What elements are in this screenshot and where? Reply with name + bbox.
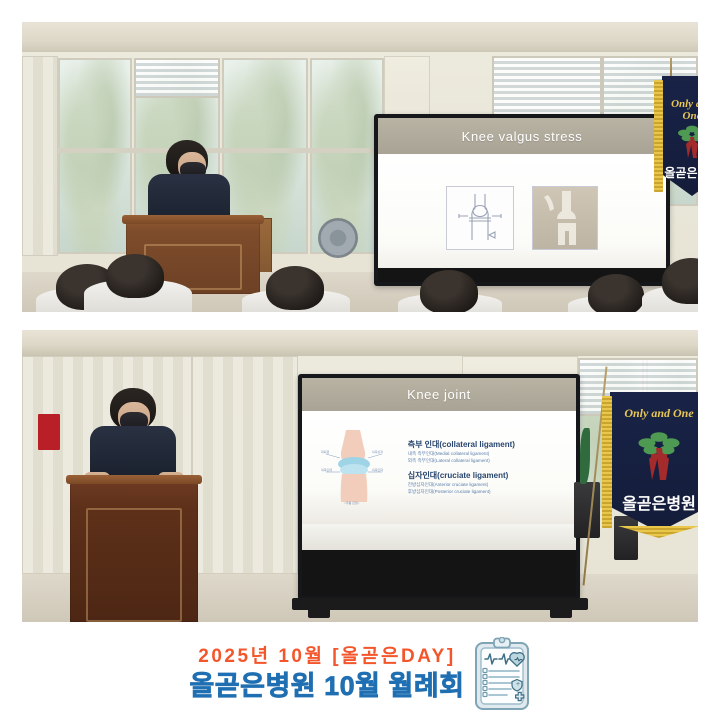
frosted-partition-left <box>22 56 58 256</box>
knee-text-block: 측부 인대(collateral ligament) 내측 측부인대(Media… <box>408 439 568 495</box>
cruciate-heading: 십자인대(cruciate ligament) <box>408 470 568 481</box>
screen-foot-left <box>308 608 330 618</box>
hospital-banner-bottom: Only and One <box>610 392 698 532</box>
event-photo-top: Knee valgus stress <box>22 22 698 312</box>
poster-page: Knee valgus stress <box>0 0 720 720</box>
screen-surface: Knee joint <box>302 378 576 596</box>
slide-title-bar: Knee joint <box>302 378 576 411</box>
caption-block: 2025년 10월 [올곧은DAY] 올곧은병원 10월 월례회 <box>0 628 720 720</box>
hospital-banner-top: Only and One <box>662 76 698 196</box>
ceiling-soffit <box>22 330 698 356</box>
podium-top-edge <box>122 215 264 224</box>
ceiling-soffit <box>22 22 698 56</box>
banner-tree-logo-top <box>662 124 698 160</box>
banner-name: 올곧은병원 <box>610 490 698 514</box>
caption-title: 올곧은병원 10월 월례회 <box>189 670 464 704</box>
standing-fan <box>318 218 358 258</box>
screen-lower-black-panel <box>302 550 576 596</box>
slide-knee-valgus: Knee valgus stress <box>378 118 666 282</box>
window-blind-upper <box>134 58 220 98</box>
event-photo-bottom: Knee joint <box>22 330 698 622</box>
podium-top-edge <box>66 475 202 484</box>
slide-title: Knee valgus stress <box>462 129 583 144</box>
plant-pot-1 <box>574 482 600 538</box>
projector-screen-bottom: Knee joint <box>298 374 580 600</box>
audience-head <box>588 274 644 312</box>
screen-surface: Knee valgus stress <box>378 118 666 282</box>
projector-screen-top: Knee valgus stress <box>374 114 670 286</box>
banner-fringe-top <box>654 80 663 192</box>
plant-pot-2 <box>614 516 638 560</box>
knee-line-diagram-icon <box>446 186 514 250</box>
plant-leaf-1 <box>580 428 590 484</box>
collateral-subline-1: 내측 측부인대(Medial collateral ligament) <box>408 451 568 457</box>
slide-title-bar: Knee valgus stress <box>378 118 666 154</box>
medical-clipboard-icon <box>473 637 531 711</box>
caption-text-group: 2025년 10월 [올곧은DAY] 올곧은병원 10월 월례회 <box>189 644 464 703</box>
slide-title: Knee joint <box>407 387 471 402</box>
knee-xray-photo <box>532 186 598 250</box>
window-blind-right <box>492 56 602 118</box>
cruciate-subline-2: 후방십자인대(Posterior cruciate ligament) <box>408 489 568 495</box>
screen-base-bar <box>292 598 588 610</box>
svg-text:<무릎 관절>: <무릎 관절> <box>344 500 360 505</box>
screen-blank-band <box>302 524 576 550</box>
lecture-room-scene-top: Knee valgus stress <box>22 22 698 312</box>
podium-front-panel <box>86 508 182 622</box>
slide-knee-joint: Knee joint <box>302 378 576 596</box>
svg-text:외측인대: 외측인대 <box>372 467 383 472</box>
window-pane-1 <box>58 58 132 254</box>
cruciate-subline-1: 전방십자인대(Anterior cruciate ligament) <box>408 482 568 488</box>
screen-foot-right <box>550 608 572 618</box>
audience-head <box>266 266 324 310</box>
banner-tree-logo <box>610 430 698 482</box>
caption-subtitle: 2025년 10월 [올곧은DAY] <box>198 644 455 670</box>
audience-head <box>420 270 478 312</box>
wall-red-sign <box>38 414 60 450</box>
svg-text:외측상과: 외측상과 <box>372 449 383 454</box>
collateral-heading: 측부 인대(collateral ligament) <box>408 439 568 450</box>
banner-motto: Only and One <box>610 406 698 421</box>
banner-motto-top: Only and One <box>662 98 698 122</box>
svg-text:내측인대: 내측인대 <box>321 467 332 472</box>
slide-body: 대퇴골 외측상과 내측인대 외측인대 <무릎 관절> 측부 인대(colla <box>302 411 576 524</box>
knee-anatomy-diagram: 대퇴골 외측상과 내측인대 외측인대 <무릎 관절> <box>310 428 398 506</box>
podium-mahogany <box>70 482 198 622</box>
lecture-room-scene-bottom: Knee joint <box>22 330 698 622</box>
banner-fringe-left <box>602 396 612 528</box>
slide-body <box>378 154 666 282</box>
audience-head <box>106 254 164 298</box>
frosted-partition-mid <box>192 356 298 574</box>
svg-text:대퇴골: 대퇴골 <box>321 449 330 454</box>
